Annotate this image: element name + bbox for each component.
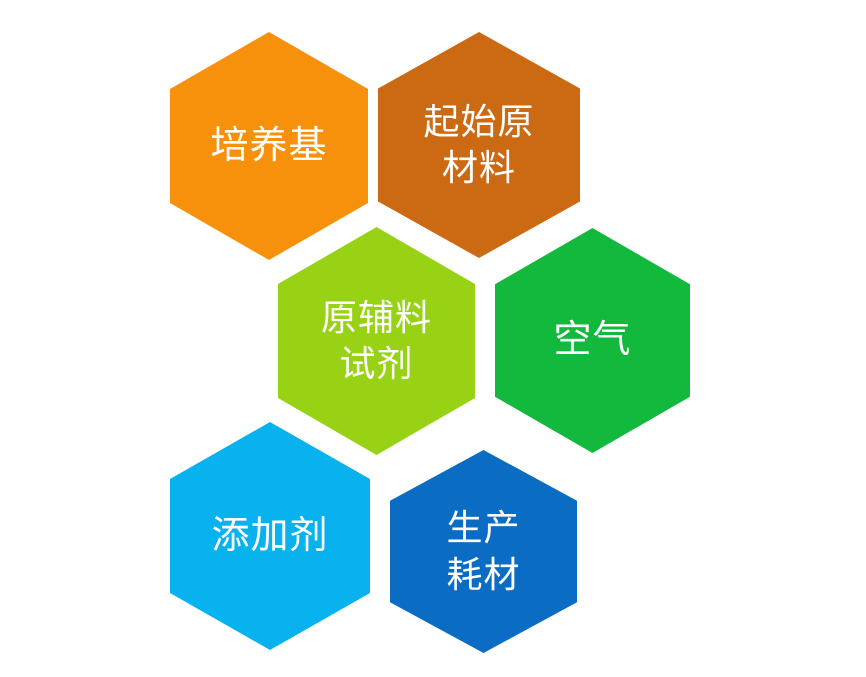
hexagon-label-kongqi: 空气 (553, 316, 631, 365)
hexagon-yuanfuliao-shiji[interactable]: 原辅料 试剂 (278, 227, 475, 455)
hexagon-label-shengchan-haocai: 生产 耗材 (446, 505, 520, 597)
hexagon-label-tianjiaji: 添加剂 (211, 512, 328, 561)
hexagon-shengchan-haocai[interactable]: 生产 耗材 (390, 450, 577, 653)
hexagon-label-yuanfuliao-shiji: 原辅料 试剂 (321, 295, 432, 387)
hexagon-kongqi[interactable]: 空气 (495, 228, 690, 453)
hexagon-label-qishi-yuancailiao: 起始原 材料 (423, 99, 534, 191)
hexagon-peiyangji[interactable]: 培养基 (170, 32, 368, 260)
diagram-canvas: 培养基 起始原 材料 原辅料 试剂 空气 添加剂 生产 耗材 (0, 0, 866, 677)
hexagon-label-peiyangji: 培养基 (210, 122, 327, 171)
hexagon-tianjiaji[interactable]: 添加剂 (170, 422, 370, 650)
hexagon-qishi-yuancailiao[interactable]: 起始原 材料 (378, 32, 580, 258)
